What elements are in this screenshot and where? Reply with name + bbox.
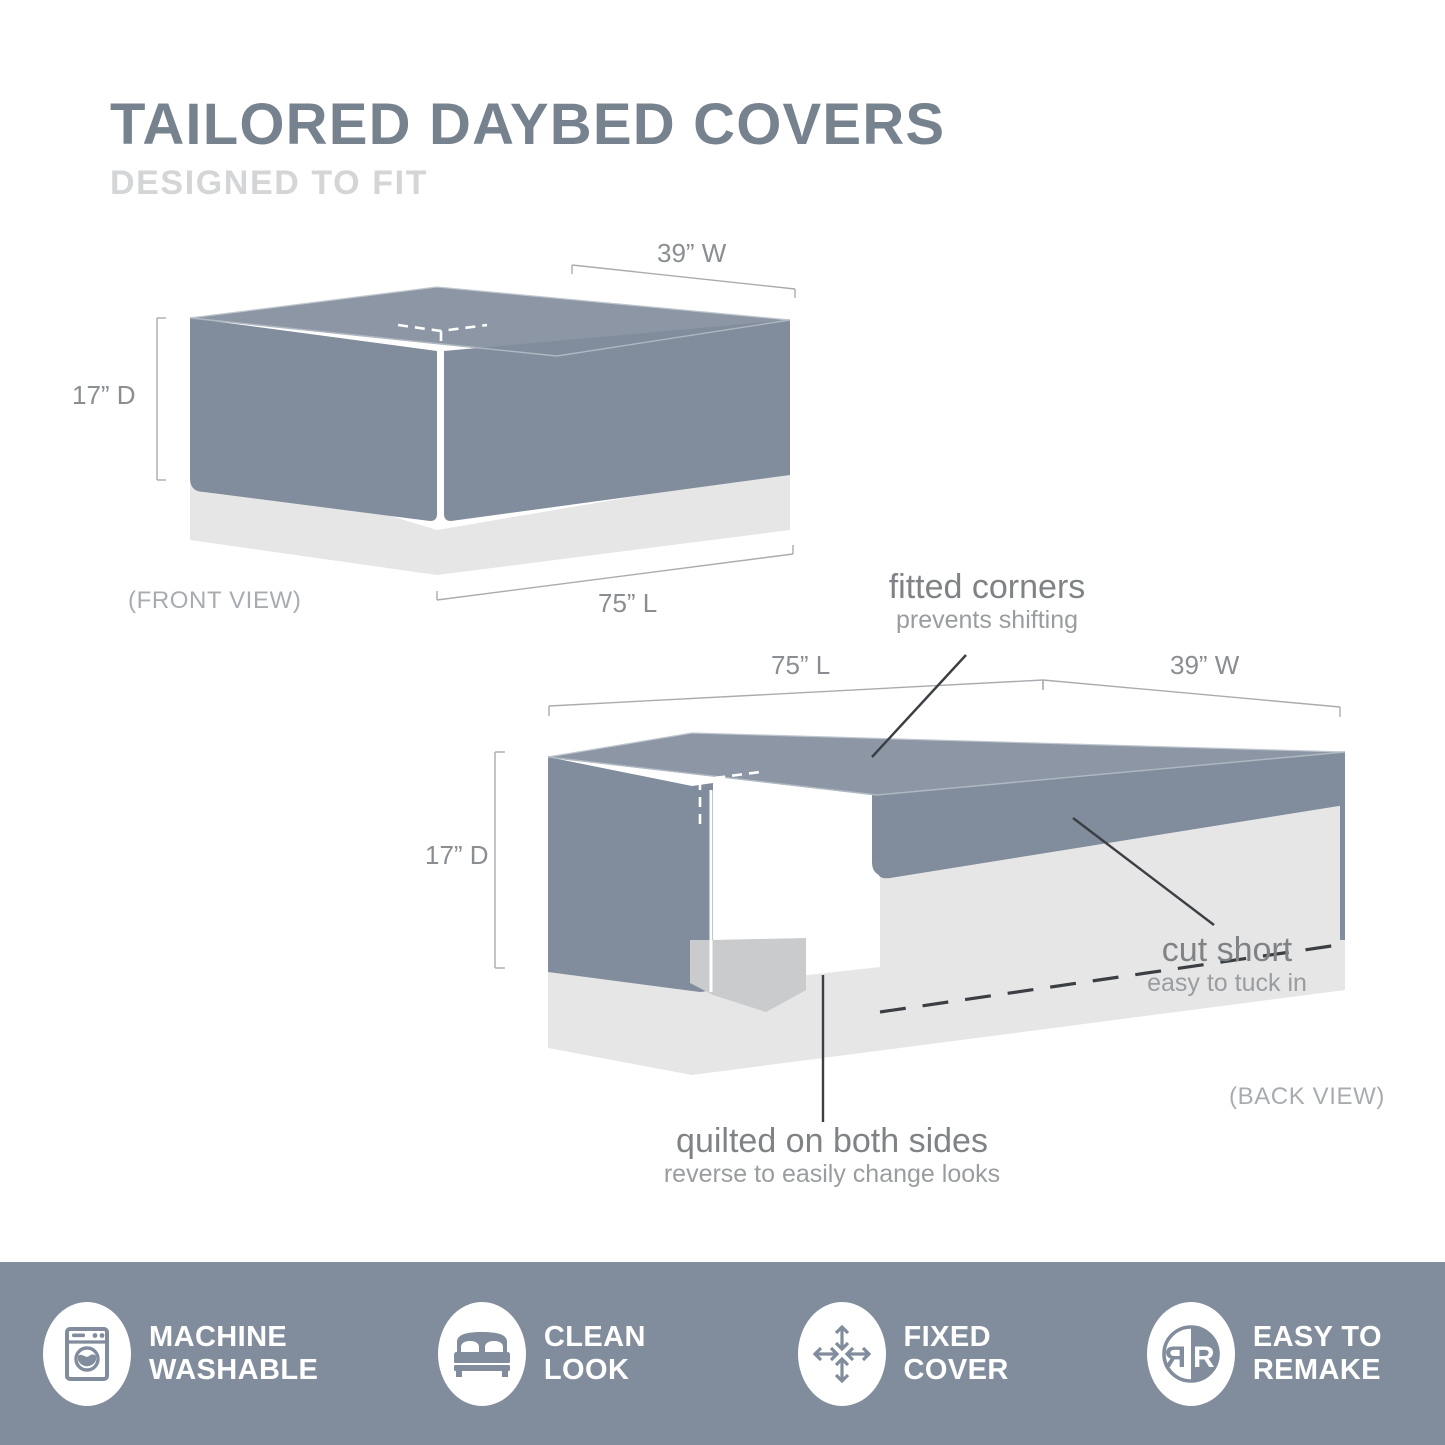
front-dim-width-line bbox=[572, 265, 795, 298]
callout-fitted-corners-title: fitted corners bbox=[867, 570, 1107, 606]
back-dim-width-line bbox=[1043, 680, 1340, 717]
back-dim-width-label: 39” W bbox=[1170, 650, 1239, 681]
svg-text:R: R bbox=[1193, 1341, 1215, 1374]
callout-cut-short: cut short easy to tuck in bbox=[1127, 933, 1327, 997]
feature-clean-look: CLEAN LOOK bbox=[361, 1302, 722, 1406]
front-dim-depth-label: 17” D bbox=[72, 380, 136, 411]
reversible-r-icon: R R bbox=[1147, 1302, 1235, 1406]
feature-easy-to-remake-label: EASY TO REMAKE bbox=[1253, 1321, 1382, 1386]
back-view-diagram bbox=[495, 655, 1345, 1122]
back-dim-length-label: 75” L bbox=[771, 650, 830, 681]
callout-quilted: quilted on both sides reverse to easily … bbox=[641, 1124, 1023, 1188]
back-dim-depth-label: 17” D bbox=[425, 840, 489, 871]
svg-text:R: R bbox=[1164, 1341, 1186, 1374]
back-dim-depth-line bbox=[495, 752, 505, 968]
back-view-label: (BACK VIEW) bbox=[1229, 1083, 1385, 1111]
callout-quilted-title: quilted on both sides bbox=[641, 1124, 1023, 1160]
front-view-label: (FRONT VIEW) bbox=[128, 587, 301, 615]
feature-machine-washable-label: MACHINE WASHABLE bbox=[149, 1321, 318, 1386]
feature-bar: MACHINE WASHABLE bbox=[0, 1262, 1445, 1445]
front-left-face bbox=[190, 318, 437, 521]
feature-machine-washable: MACHINE WASHABLE bbox=[0, 1302, 361, 1406]
callout-cut-short-title: cut short bbox=[1127, 933, 1327, 969]
back-right-edge-strip bbox=[1340, 752, 1345, 940]
infographic-canvas: TAILORED DAYBED COVERS DESIGNED TO FIT bbox=[0, 0, 1445, 1445]
front-dim-width-label: 39” W bbox=[657, 238, 726, 269]
callout-quilted-sub: reverse to easily change looks bbox=[641, 1161, 1023, 1189]
feature-fixed-cover-label: FIXED COVER bbox=[904, 1321, 1009, 1386]
front-view-diagram bbox=[157, 265, 795, 600]
front-dim-length-label: 75” L bbox=[598, 588, 657, 619]
front-dim-depth-line bbox=[157, 318, 166, 480]
callout-fitted-corners: fitted corners prevents shifting bbox=[867, 570, 1107, 634]
feature-easy-to-remake: R R EASY TO REMAKE bbox=[1084, 1302, 1445, 1406]
callout-cut-short-sub: easy to tuck in bbox=[1127, 970, 1327, 998]
feature-fixed-cover: FIXED COVER bbox=[723, 1302, 1084, 1406]
product-diagrams bbox=[0, 0, 1445, 1260]
back-right-band-corner bbox=[872, 793, 905, 876]
back-left-face bbox=[548, 757, 713, 992]
back-dim-length-line bbox=[549, 680, 1043, 716]
washing-machine-icon bbox=[43, 1302, 131, 1406]
four-way-arrows-icon bbox=[798, 1302, 886, 1406]
bed-icon bbox=[438, 1302, 526, 1406]
feature-clean-look-label: CLEAN LOOK bbox=[544, 1321, 646, 1386]
callout-fitted-corners-sub: prevents shifting bbox=[867, 607, 1107, 635]
